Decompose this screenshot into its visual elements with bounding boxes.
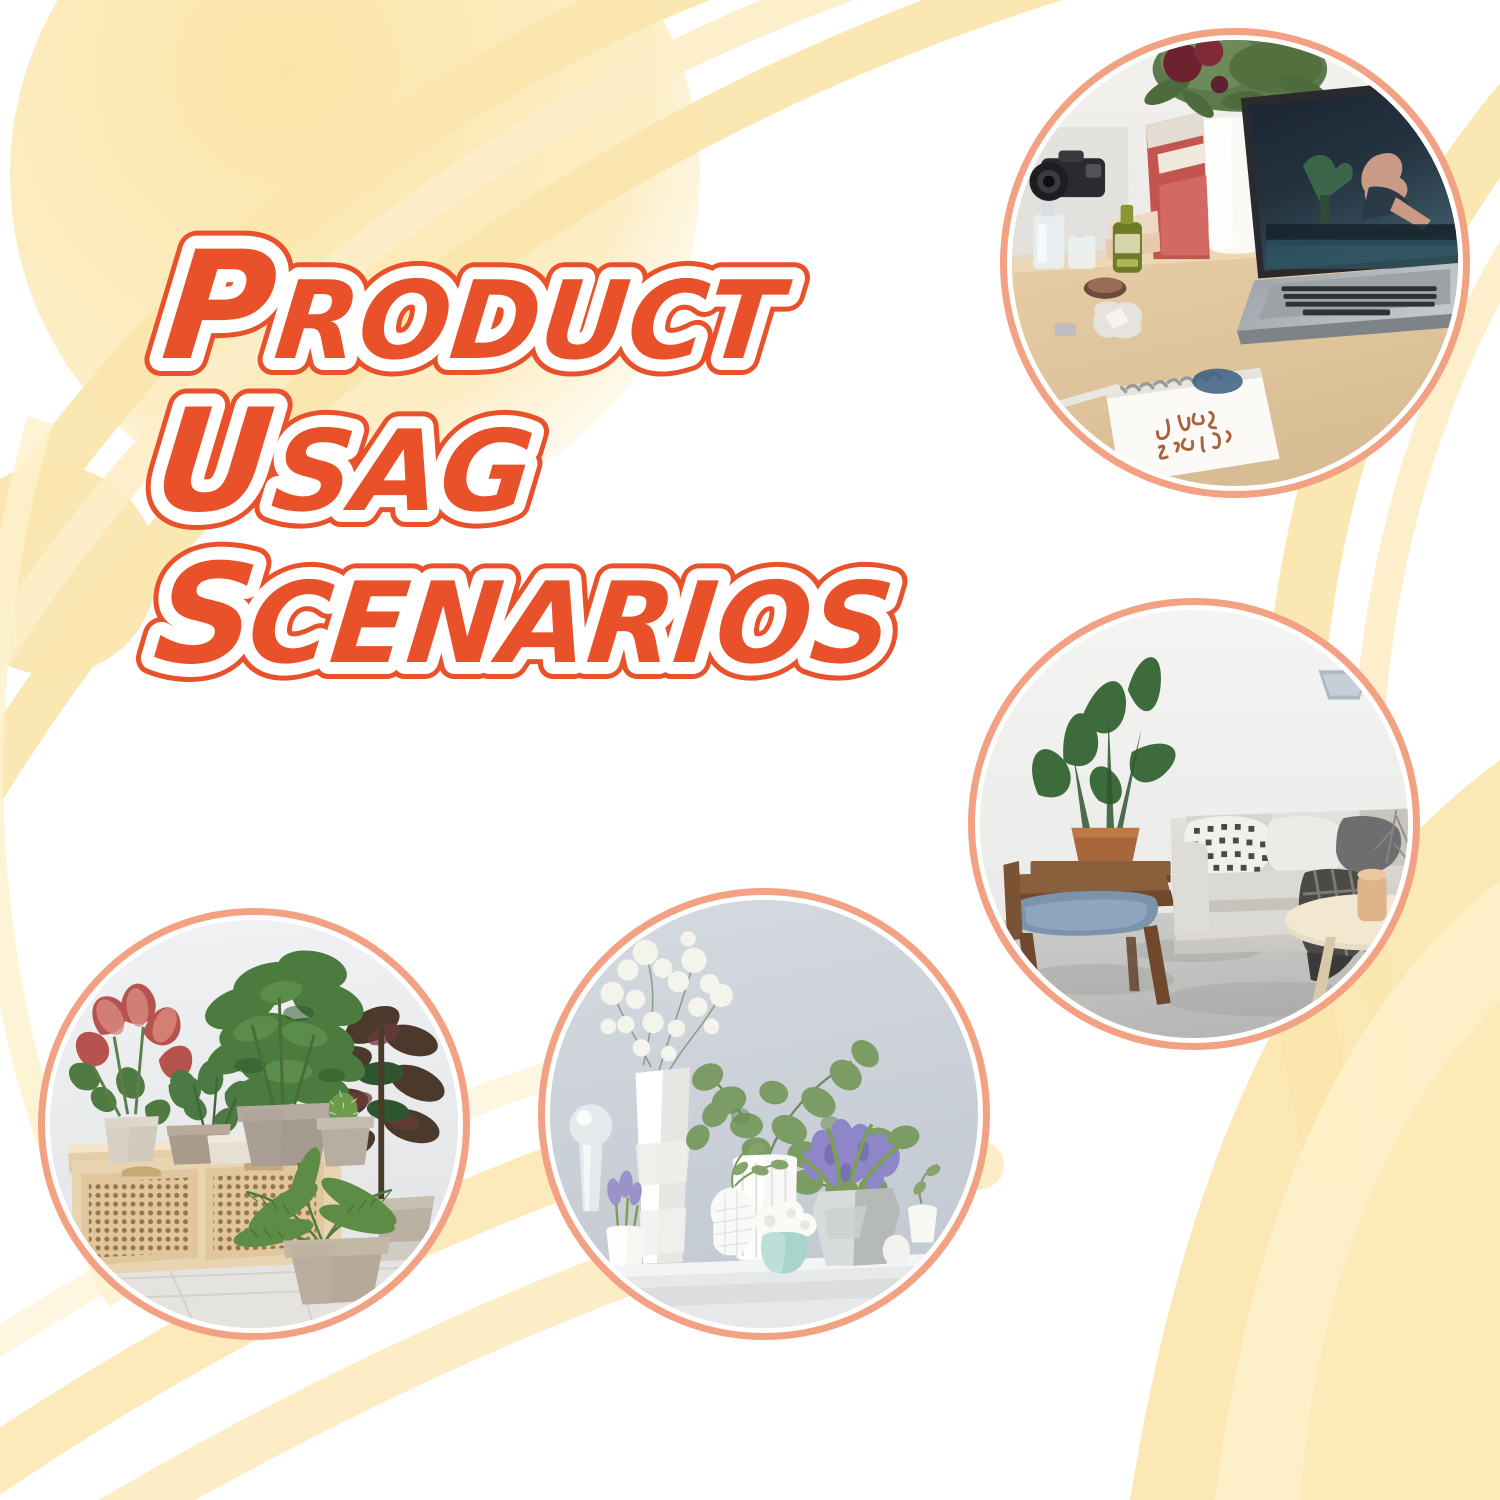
page-title: P RODUCT P RODUCT P RODUCT U SAG U SAG U… bbox=[150, 238, 950, 694]
circle-frame bbox=[1000, 28, 1470, 498]
title-rest-1: RODUCT bbox=[270, 257, 796, 384]
photo-computers bbox=[1012, 40, 1458, 486]
infographic-canvas: P RODUCT P RODUCT P RODUCT U SAG U SAG U… bbox=[0, 0, 1500, 1500]
circle-frame bbox=[38, 908, 470, 1340]
photo-vase bbox=[550, 900, 978, 1328]
title-line-2: U SAG U SAG U SAG bbox=[150, 390, 950, 542]
title-rest-3: CENARIOS bbox=[243, 559, 899, 689]
scenario-card-vase[interactable]: Vase bbox=[538, 888, 990, 1340]
circle-frame bbox=[538, 888, 990, 1340]
title-lead-2: U bbox=[148, 378, 281, 544]
title-rest-2: SAG bbox=[267, 407, 540, 537]
scenario-card-home[interactable]: Home bbox=[968, 598, 1420, 1050]
scenario-card-computers[interactable]: Computers bbox=[1000, 28, 1470, 498]
title-line-3: S CENARIOS S CENARIOS S CENARIOS bbox=[150, 542, 950, 694]
photo-potted-plants bbox=[50, 920, 458, 1328]
scenario-card-potted-plants[interactable]: Potted Plants bbox=[38, 908, 470, 1340]
title-line-1: P RODUCT P RODUCT P RODUCT bbox=[150, 238, 950, 390]
circle-frame bbox=[968, 598, 1420, 1050]
title-lead-1: P bbox=[156, 219, 284, 394]
photo-home bbox=[980, 610, 1408, 1038]
